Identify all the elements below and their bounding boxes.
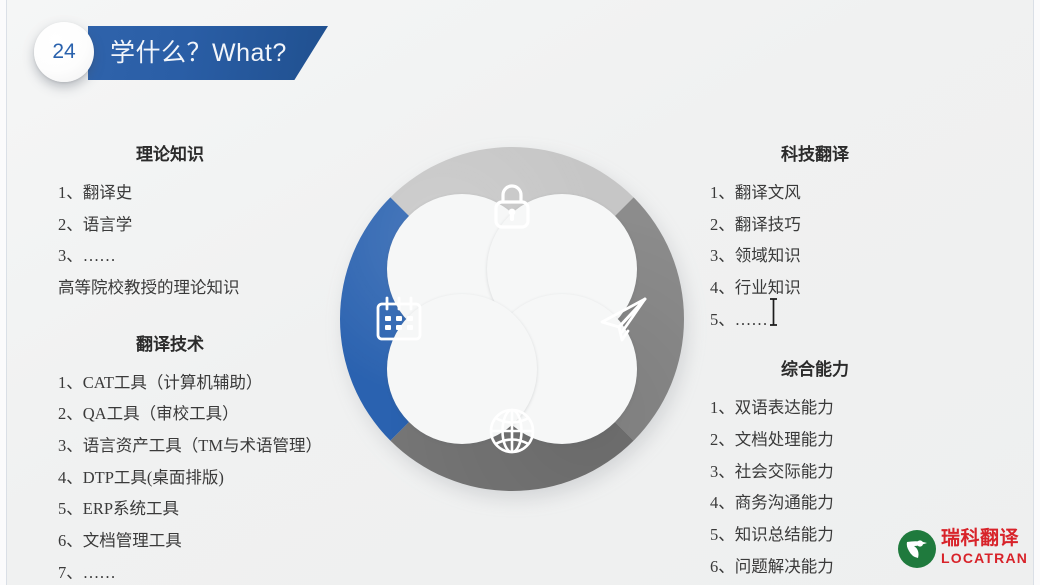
list-item: 3、语言资产工具（TM与术语管理） — [30, 430, 360, 462]
list-item: 1、CAT工具（计算机辅助） — [30, 367, 360, 399]
slide-left-border — [6, 0, 7, 585]
section-heading-theory: 理论知识 — [30, 140, 310, 165]
list-item: 1、双语表达能力 — [700, 392, 1000, 424]
company-logo: 瑞科翻译 LOCATRAN — [897, 527, 1033, 573]
list-item: 2、语言学 — [30, 209, 360, 241]
list-item: 1、翻译文风 — [700, 177, 1000, 209]
list-theory: 1、翻译史 2、语言学 3、…… — [30, 177, 360, 272]
text-ibeam-cursor — [768, 298, 779, 326]
slide-right-border — [1033, 0, 1034, 585]
list-technical-translation: 1、翻译文风 2、翻译技巧 3、领域知识 4、行业知识 5、…… — [700, 177, 1000, 335]
logo-mark-icon — [897, 529, 937, 569]
section-translation-technology: 翻译技术 1、CAT工具（计算机辅助） 2、QA工具（审校工具） 3、语言资产工… — [30, 330, 360, 585]
list-item: 5、…… — [700, 304, 1000, 336]
paper-plane-icon — [595, 290, 653, 348]
list-item: 3、社会交际能力 — [700, 456, 1000, 488]
list-technology: 1、CAT工具（计算机辅助） 2、QA工具（审校工具） 3、语言资产工具（TM与… — [30, 367, 360, 585]
calendar-icon — [370, 290, 428, 348]
globe-icon — [483, 402, 541, 460]
list-item: 2、翻译技巧 — [700, 209, 1000, 241]
list-item: 3、…… — [30, 240, 360, 272]
list-item: 7、…… — [30, 557, 360, 585]
lock-icon — [483, 177, 541, 235]
list-item: 2、QA工具（审校工具） — [30, 398, 360, 430]
column-spacer — [700, 339, 1000, 355]
logo-name-cn: 瑞科翻译 — [941, 527, 1033, 550]
list-item: 6、文档管理工具 — [30, 525, 360, 557]
section-theory-knowledge: 理论知识 1、翻译史 2、语言学 3、…… 高等院校教授的理论知识 — [30, 140, 360, 304]
list-item: 4、商务沟通能力 — [700, 487, 1000, 519]
list-item: 2、文档处理能力 — [700, 424, 1000, 456]
list-item: 4、DTP工具(桌面排版) — [30, 462, 360, 494]
section-technical-translation: 科技翻译 1、翻译文风 2、翻译技巧 3、领域知识 4、行业知识 5、…… — [700, 140, 1000, 335]
pinwheel-diagram — [340, 147, 692, 499]
list-item: 4、行业知识 — [700, 272, 1000, 304]
slide-number-badge: 24 — [34, 22, 94, 82]
right-column: 科技翻译 1、翻译文风 2、翻译技巧 3、领域知识 4、行业知识 5、…… 综合… — [700, 140, 1000, 585]
logo-name-en: LOCATRAN — [941, 550, 1033, 567]
list-item: 5、ERP系统工具 — [30, 493, 360, 525]
slide-number-label: 24 — [34, 22, 94, 82]
list-item: 1、翻译史 — [30, 177, 360, 209]
logo-text: 瑞科翻译 LOCATRAN — [941, 527, 1033, 567]
column-spacer — [30, 308, 360, 330]
section-heading-technology: 翻译技术 — [30, 330, 310, 355]
page-title: 学什么？What? — [110, 26, 287, 80]
list-item: 3、领域知识 — [700, 240, 1000, 272]
section-heading-comprehensive-ability: 综合能力 — [700, 355, 930, 380]
slide-canvas: 学什么？What? 24 理论知识 1、翻译史 2、语言学 3、…… 高等院校教… — [0, 0, 1040, 585]
left-column: 理论知识 1、翻译史 2、语言学 3、…… 高等院校教授的理论知识 翻译技术 1… — [30, 140, 360, 585]
section-heading-technical-translation: 科技翻译 — [700, 140, 930, 165]
slide-right-edge — [1034, 0, 1040, 585]
theory-note: 高等院校教授的理论知识 — [30, 272, 360, 304]
